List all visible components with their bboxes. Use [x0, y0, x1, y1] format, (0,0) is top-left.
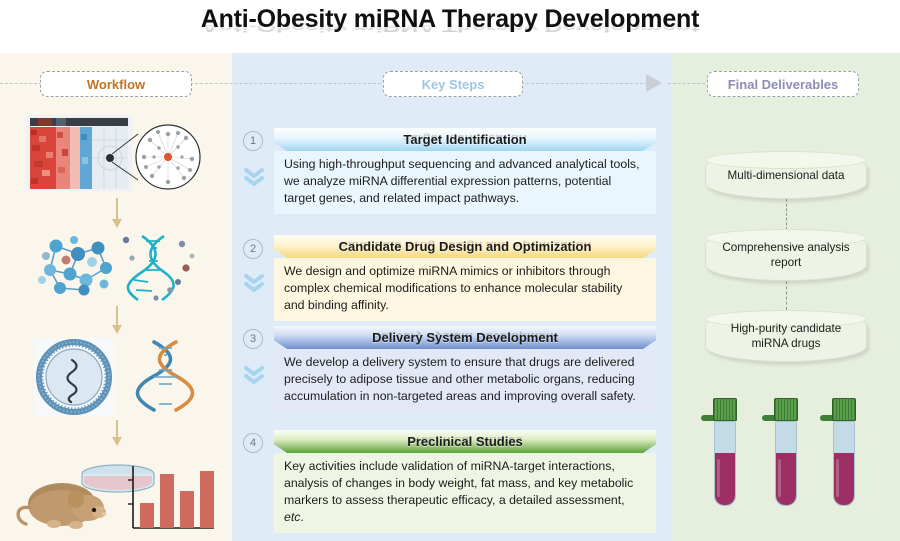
deliverable-item-2-label: Comprehensive analysis report [716, 240, 856, 270]
header-chip-final-deliverables[interactable]: Final Deliverables [707, 71, 859, 97]
step-4-banner: Preclinical Studies Preclinical Studies [274, 430, 656, 453]
step-chevron-3-icon [243, 364, 265, 384]
deliverable-item-1-label: Multi-dimensional data [728, 168, 845, 183]
step-1-body: Using high-throughput sequencing and adv… [274, 151, 656, 214]
tube-1-cap [713, 398, 737, 421]
page-title-block: Anti-Obesity miRNA Therapy Development A… [0, 4, 900, 52]
deliverable-item-3-label: High-purity candidate miRNA drugs [716, 321, 856, 351]
header-connector-line-2 [521, 83, 648, 84]
step-number-1: 1 [243, 131, 263, 151]
step-chevron-1-icon [243, 166, 265, 186]
header-connector-line-3 [668, 83, 710, 84]
tube-1-glass [714, 421, 736, 506]
step-2-title: Candidate Drug Design and Optimization [339, 239, 592, 254]
tube-3-fluid [834, 453, 854, 505]
header-chip-key-steps[interactable]: Key Steps [383, 71, 523, 97]
step-4-body-italic: etc [284, 510, 300, 524]
header-connector-line-left [0, 83, 42, 84]
step-1-title: Target Identification [403, 132, 526, 147]
workflow-arrow-3-icon [112, 420, 122, 446]
step-1-banner: Target Identification Target Identificat… [274, 128, 656, 151]
step-3-banner: Delivery System Development Delivery Sys… [274, 326, 656, 349]
step-number-2: 2 [243, 239, 263, 259]
step-card-preclinical-studies[interactable]: Preclinical Studies Preclinical Studies … [274, 430, 656, 533]
header-chip-workflow-label: Workflow [87, 77, 145, 92]
workflow-arrow-1-icon [112, 198, 122, 228]
step-card-target-identification[interactable]: Target Identification Target Identificat… [274, 128, 656, 214]
deliverable-item-3[interactable]: High-purity candidate miRNA drugs [705, 310, 867, 362]
tube-2-glass [775, 421, 797, 506]
step-4-body: Key activities include validation of miR… [274, 453, 656, 533]
step-2-body: We design and optimize miRNA mimics or i… [274, 258, 656, 321]
deliverable-connector-1 [786, 199, 787, 230]
step-number-3: 3 [243, 329, 263, 349]
workflow-art-liposome-dna [26, 334, 206, 418]
workflow-art-molecule-dna [26, 228, 206, 304]
step-number-4: 4 [243, 433, 263, 453]
header-arrow-icon [646, 74, 662, 92]
step-4-title: Preclinical Studies [407, 434, 523, 449]
tube-1-fluid [715, 453, 735, 505]
deliverable-item-2[interactable]: Comprehensive analysis report [705, 229, 867, 281]
header-chip-workflow[interactable]: Workflow [40, 71, 192, 97]
tube-2-cap [774, 398, 798, 421]
infographic-page: Anti-Obesity miRNA Therapy Development A… [0, 0, 900, 541]
workflow-art-mouse-petri-barchart [14, 446, 220, 534]
step-4-body-post: . [300, 510, 303, 524]
workflow-art-heatmap-network [26, 112, 206, 194]
step-3-body: We develop a delivery system to ensure t… [274, 349, 656, 412]
step-card-candidate-drug-design[interactable]: Candidate Drug Design and Optimization C… [274, 235, 656, 321]
tube-3-cap [832, 398, 856, 421]
deliverable-connector-2 [786, 281, 787, 310]
step-chevron-2-icon [243, 272, 265, 292]
header-connector-line-1 [190, 83, 386, 84]
header-chip-key-steps-label: Key Steps [422, 77, 485, 92]
deliverable-item-1[interactable]: Multi-dimensional data [705, 151, 867, 199]
workflow-arrow-2-icon [112, 306, 122, 334]
step-2-banner: Candidate Drug Design and Optimization C… [274, 235, 656, 258]
page-title-reflection: Anti-Obesity miRNA Therapy Development [0, 19, 900, 36]
step-card-delivery-system-development[interactable]: Delivery System Development Delivery Sys… [274, 326, 656, 412]
step-4-body-pre: Key activities include validation of miR… [284, 459, 633, 507]
header-chip-final-deliverables-label: Final Deliverables [728, 77, 839, 92]
step-3-title: Delivery System Development [372, 330, 558, 345]
tube-2-fluid [776, 453, 796, 505]
tube-3-glass [833, 421, 855, 506]
